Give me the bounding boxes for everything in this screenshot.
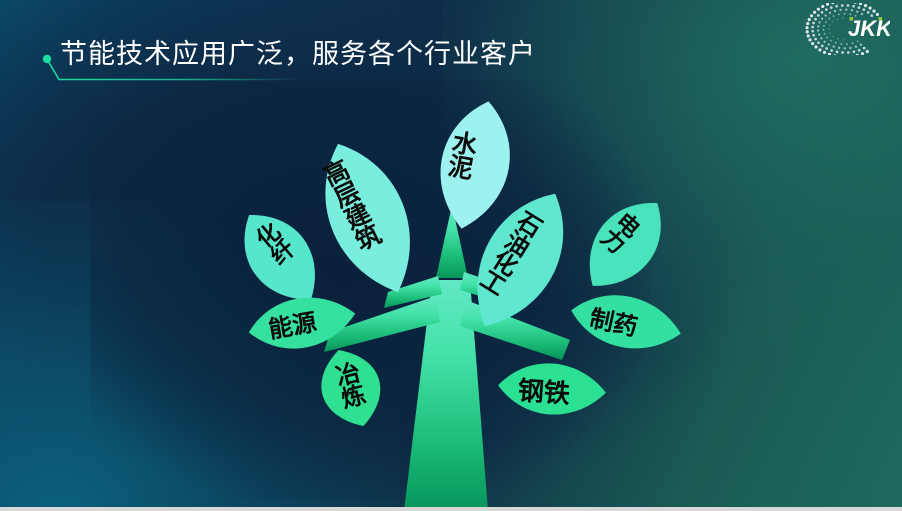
industry-tree-diagram	[0, 0, 902, 511]
leaf-steel[interactable]	[496, 360, 607, 418]
leaf-cement[interactable]	[428, 94, 521, 235]
leaf-highrise[interactable]	[303, 130, 432, 306]
leaf-power[interactable]	[570, 185, 681, 304]
slide-canvas: JKKJ 节能技术应用广泛，服务各个行业客户	[0, 0, 902, 511]
slide-bottom-edge	[0, 507, 902, 511]
leaf-pharma[interactable]	[566, 285, 686, 358]
leaf-smelting[interactable]	[311, 341, 391, 435]
